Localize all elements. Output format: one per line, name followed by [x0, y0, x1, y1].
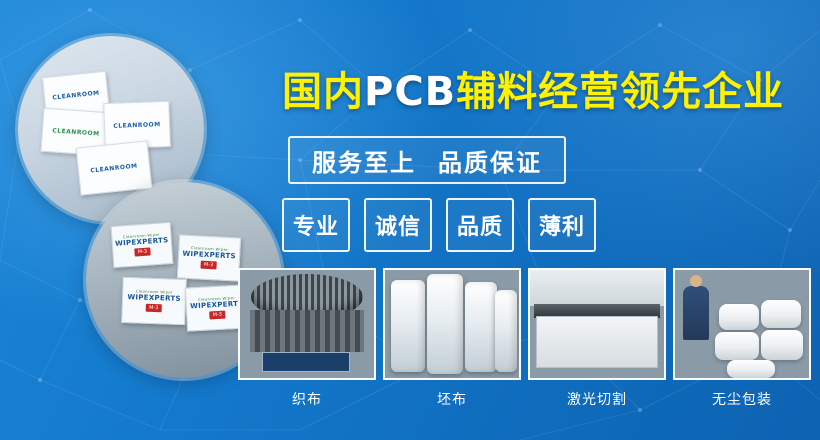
- thumbnail-caption: 激光切割: [567, 389, 627, 409]
- pack-label: CLEANROOM: [52, 126, 100, 138]
- thumbnail-greige-fabric: 坯布: [385, 268, 519, 409]
- box-main-label: WIPEXPERTS: [182, 250, 236, 261]
- thumbnail-cleanroom-packing: 无尘包装: [675, 268, 809, 409]
- thumbnail-weaving: 织布: [240, 268, 374, 409]
- thumbnail-caption: 织布: [292, 389, 322, 409]
- thumbnail-caption: 无尘包装: [712, 389, 772, 409]
- fabric-rolls-photo: [383, 268, 521, 380]
- box-badge: M-3: [134, 247, 151, 256]
- laser-cutting-photo: [528, 268, 666, 380]
- banner-headline: 国内PCB辅料经营领先企业: [282, 72, 784, 112]
- keyword-list: 专业 诚信 品质 薄利: [282, 198, 596, 252]
- cleanroom-packing-photo: [673, 268, 811, 380]
- subtitle-quality: 品质保证: [438, 143, 542, 178]
- keyword-low-margin: 薄利: [528, 198, 596, 252]
- subtitle-service: 服务至上: [312, 143, 416, 178]
- keyword-professional: 专业: [282, 198, 350, 252]
- box-badge: M-3: [209, 311, 225, 320]
- promo-banner: CLEANROOM CLEANROOM CLEANROOM CLEANROOM …: [0, 0, 820, 440]
- headline-part-1: 国内: [282, 69, 364, 115]
- knitting-machine-photo: [238, 268, 376, 380]
- box-main-label: WIPEXPERTS: [127, 293, 181, 303]
- thumbnail-laser-cutting: 激光切割: [530, 268, 664, 409]
- pack-label: CLEANROOM: [113, 120, 161, 131]
- process-thumbnail-list: 织布 坯布 激光切割: [240, 268, 809, 409]
- banner-subtitle-bar: 服务至上 品质保证: [288, 136, 566, 184]
- headline-part-pcb: PCB: [364, 69, 456, 115]
- box-main-label: WIPEXPERTS: [190, 300, 244, 311]
- headline-part-2: 辅料经营领先企业: [456, 69, 784, 115]
- pack-label: CLEANROOM: [90, 161, 138, 175]
- keyword-quality: 品质: [446, 198, 514, 252]
- keyword-integrity: 诚信: [364, 198, 432, 252]
- thumbnail-caption: 坯布: [437, 389, 467, 409]
- box-badge: M-3: [200, 261, 216, 270]
- pack-label: CLEANROOM: [52, 88, 100, 102]
- box-badge: M-3: [146, 304, 162, 313]
